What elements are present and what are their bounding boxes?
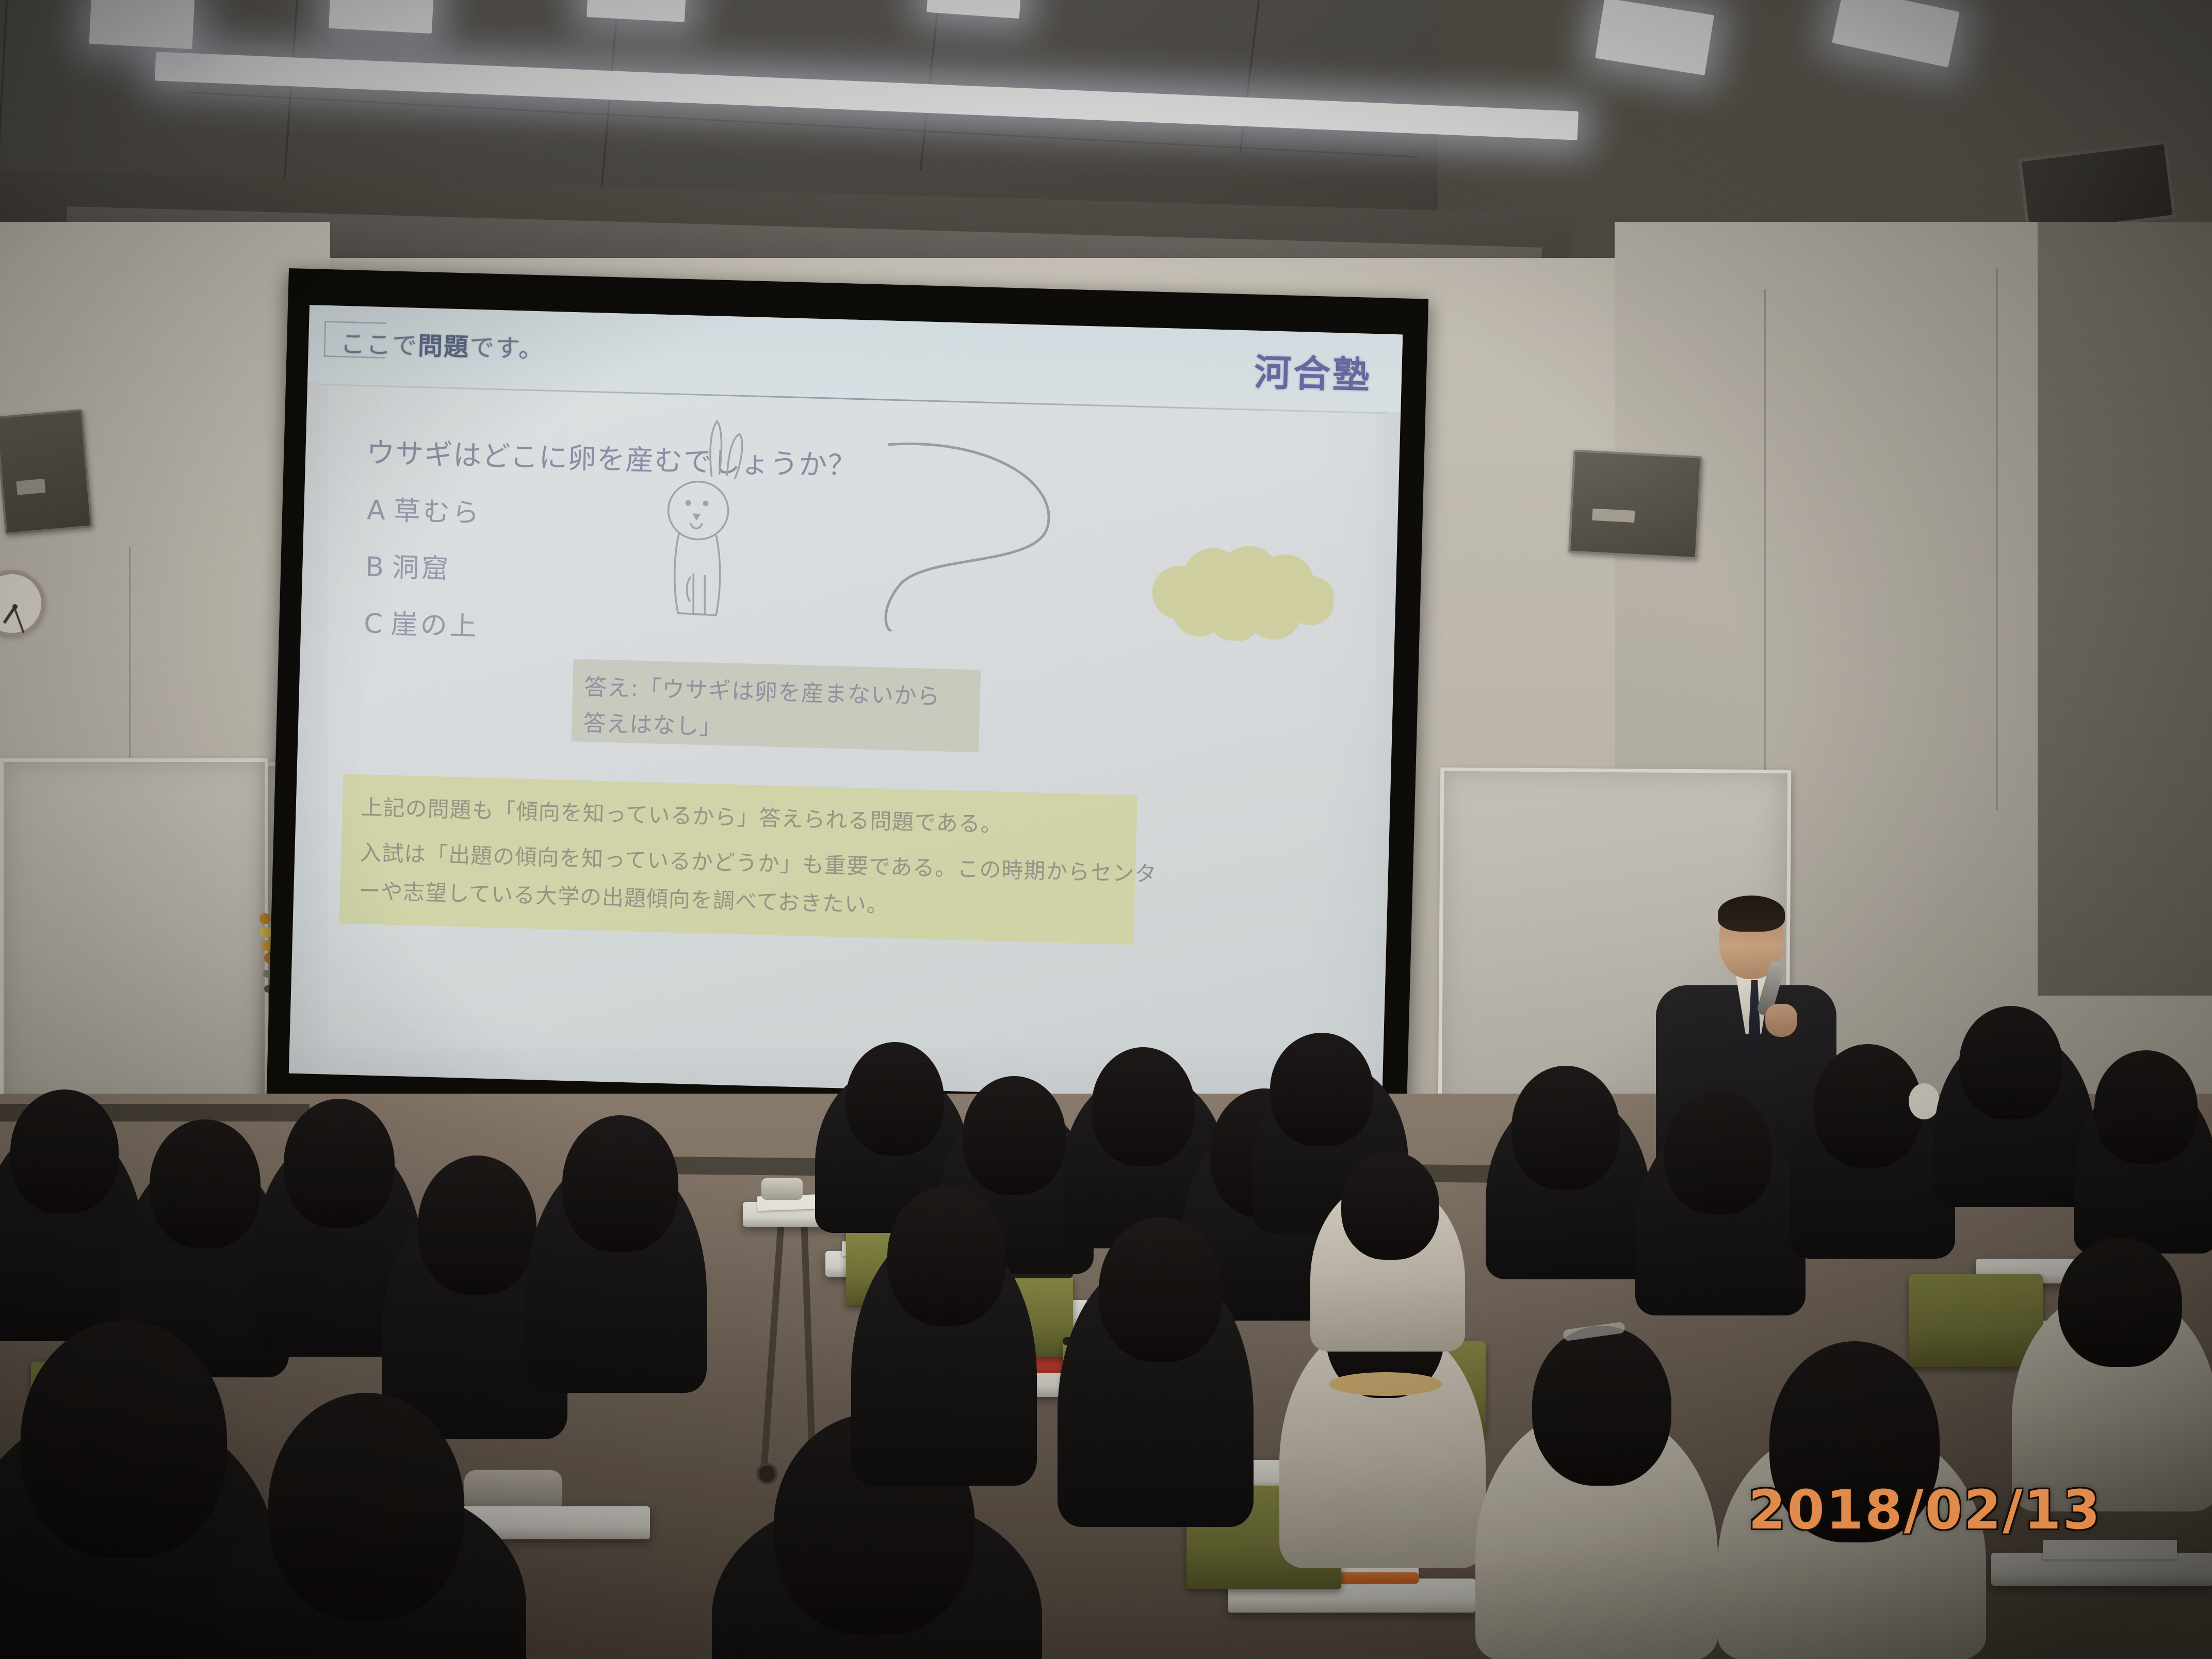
student-head: [1270, 1033, 1373, 1146]
student-head: [1959, 1006, 2062, 1119]
rabbit-line-drawing: [665, 420, 743, 616]
slide-header-prefix: ここで: [340, 330, 418, 361]
photo-timestamp: 2018/02/13: [1748, 1478, 2102, 1541]
wall-seam: [1996, 268, 1998, 810]
slide-note-box: 上記の問題も「傾向を知っているから」答えられる問題である。 入試は「出題の傾向を…: [339, 774, 1137, 945]
speaker-badge: [1592, 508, 1635, 522]
slide-option-c: C崖の上: [364, 601, 480, 643]
slide-answer-box: 答え:「ウサギは卵を産まないから 答えはなし」: [571, 659, 981, 752]
student-head: [887, 1186, 1006, 1326]
classroom-chair: [1909, 1274, 2043, 1367]
student-head: [1092, 1047, 1195, 1166]
whiteboard-magnet: [260, 926, 271, 938]
answer-line-2: 答えはなし」: [583, 705, 723, 741]
desk-paper: [2043, 1540, 2177, 1559]
option-a-letter: A: [367, 495, 394, 526]
uniform-collar-trim: [1329, 1372, 1442, 1396]
option-c-text: 崖の上: [391, 609, 480, 643]
ceiling-light-strip: [89, 0, 195, 49]
student-head: [284, 1099, 395, 1228]
option-a-text: 草むら: [393, 496, 482, 529]
student-head-foreground: [268, 1393, 464, 1620]
slide-option-a: A草むら: [366, 488, 482, 530]
kawaijuku-logo: 河合塾: [1254, 342, 1373, 399]
student-head: [963, 1076, 1066, 1195]
wall-speaker-right: [1568, 450, 1702, 560]
option-b-letter: B: [365, 551, 393, 583]
note-line-3: ーや志望している大学の出題傾向を調べておきたい。: [359, 873, 889, 919]
student-head: [1511, 1066, 1620, 1190]
student-head: [10, 1089, 119, 1213]
whiteboard-magnet: [259, 913, 271, 924]
presenter-hair: [1718, 896, 1785, 932]
s-curve-road-line: [884, 443, 1050, 636]
slide-header-emphasis: 問題: [417, 332, 469, 362]
student-face-mask: [1909, 1083, 1940, 1119]
slide-body: ウサギはどこに卵を産むでしょうか？ A草むら B洞窟 C崖の上: [289, 383, 1401, 1103]
illustration-svg: [662, 409, 1339, 643]
projection-screen-surface: ここで問題です。 河合塾 ウサギはどこに卵を産むでしょうか？ A草むら B洞窟 …: [289, 305, 1403, 1103]
whiteboard-left-panel: [0, 758, 268, 1114]
speaker-badge: [16, 479, 45, 495]
student-head: [562, 1115, 678, 1252]
clock-minute-hand: [13, 607, 25, 633]
slide-illustration: [662, 409, 1339, 643]
student-head: [1814, 1044, 1922, 1168]
ceiling-light-strip: [329, 0, 435, 34]
classroom-photo: ここで問題です。 河合塾 ウサギはどこに卵を産むでしょうか？ A草むら B洞窟 …: [0, 0, 2212, 1659]
student-head: [1664, 1091, 1772, 1214]
student-head: [150, 1119, 261, 1248]
student-head: [846, 1042, 944, 1156]
option-c-letter: C: [364, 608, 392, 640]
bush-cloud-shape: [1151, 544, 1337, 643]
slide-header-title: ここで問題です。: [340, 323, 545, 365]
presenter-hand: [1765, 1004, 1797, 1037]
note-line-1: 上記の問題も「傾向を知っているから」答えられる問題である。: [361, 790, 1003, 839]
wall-seam: [129, 547, 131, 763]
clock-center-pin: [12, 604, 18, 609]
student-head: [1099, 1217, 1223, 1362]
desk-water-bottle: [761, 1178, 803, 1200]
projector-cart-caster: [756, 1463, 778, 1485]
slide-header-suffix: です。: [469, 333, 545, 364]
projection-screen-frame: ここで問題です。 河合塾 ウサギはどこに卵を産むでしょうか？ A草むら B洞窟 …: [266, 268, 1428, 1160]
student-head: [1341, 1151, 1439, 1260]
wall-speaker-left: [0, 409, 93, 535]
option-b-text: 洞窟: [392, 552, 451, 585]
slide-option-b: B洞窟: [365, 545, 452, 585]
student-head-foreground: [21, 1321, 227, 1558]
right-wall-shadowed: [2038, 222, 2212, 996]
student-head: [418, 1156, 536, 1295]
student-head: [2058, 1238, 2182, 1367]
student-head: [2094, 1050, 2198, 1164]
student-head: [1532, 1326, 1671, 1486]
answer-line-1: 答え:「ウサギは卵を産まないから: [583, 669, 940, 711]
